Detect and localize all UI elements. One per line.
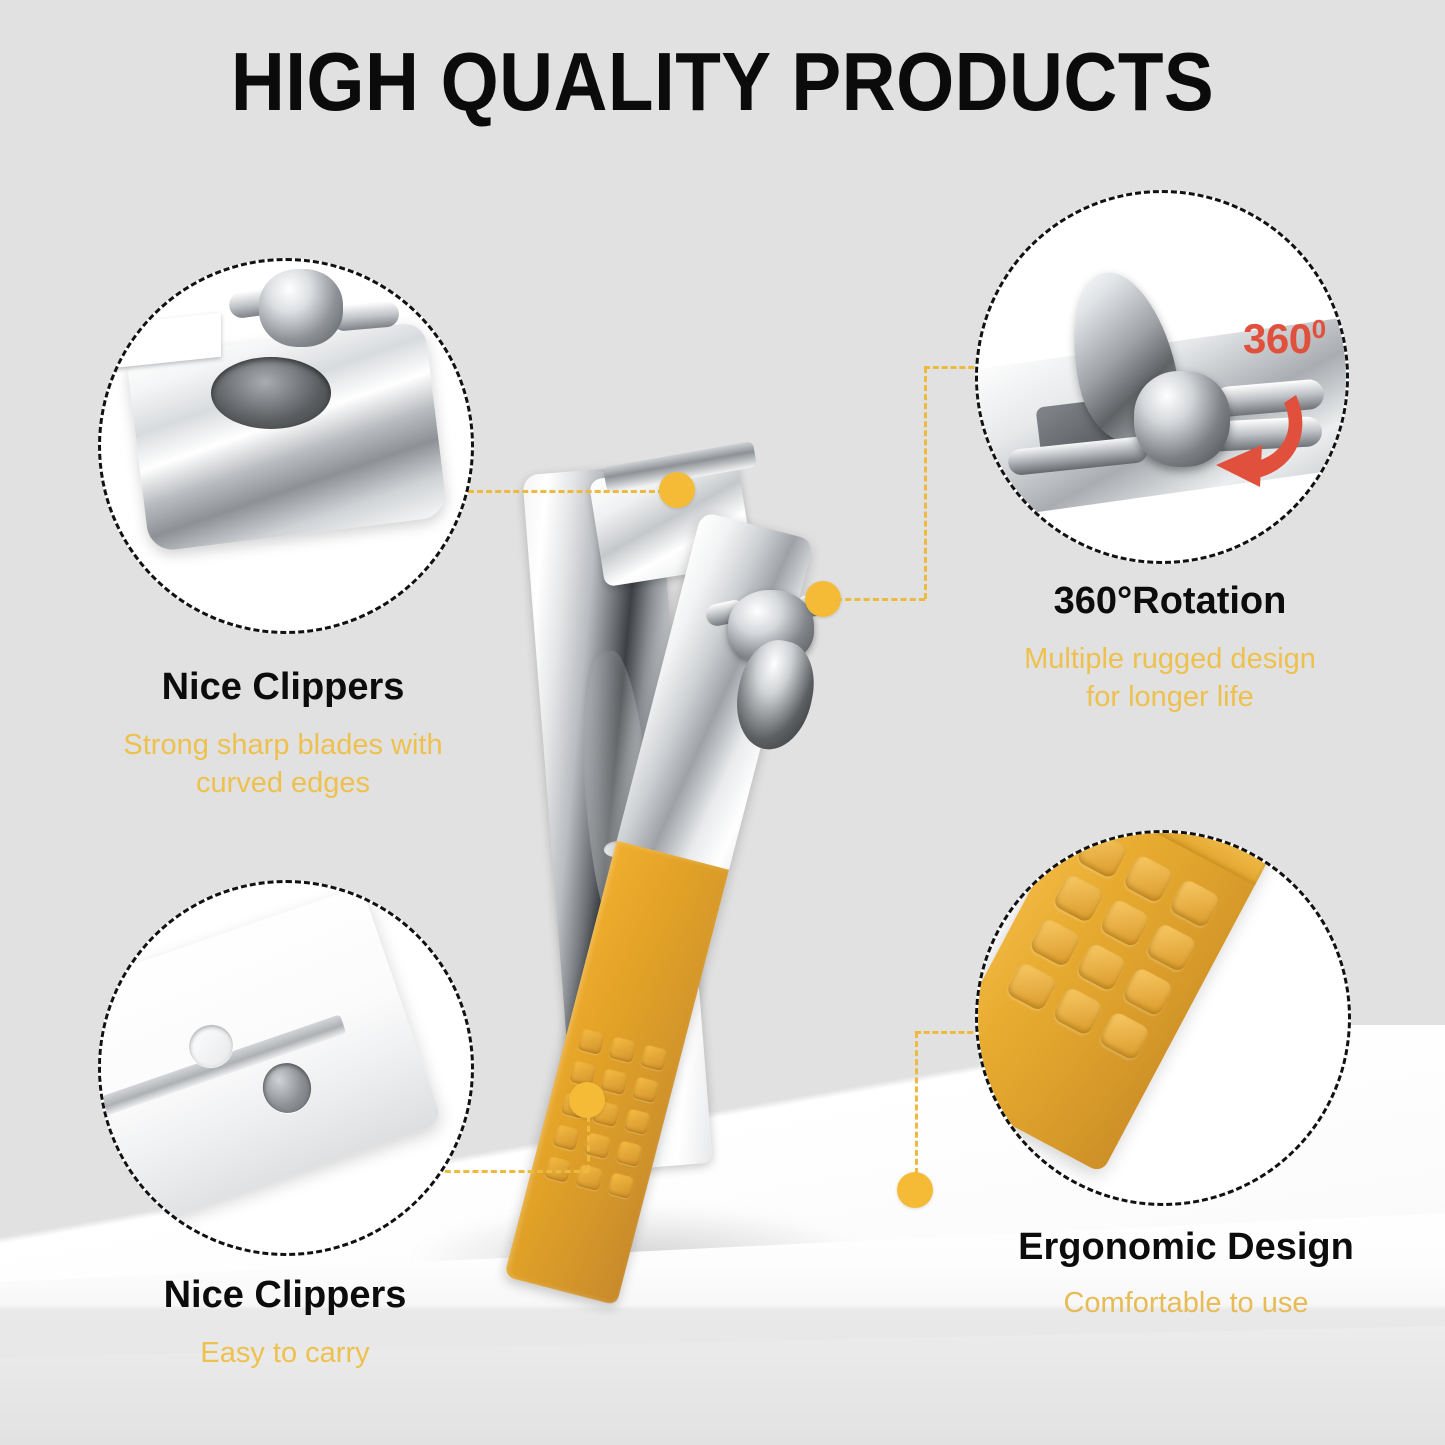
rotation-arrow-icon <box>1164 369 1314 499</box>
page-title: HIGH QUALITY PRODUCTS <box>72 34 1373 130</box>
clipper-jaw-shadow <box>606 484 723 555</box>
feature-subtitle: Strong sharp blades with curved edges <box>58 726 508 803</box>
clipper-upper-jaw <box>588 457 753 587</box>
hotspot-dot-pivot <box>805 581 841 617</box>
clipper-body-hole <box>603 910 639 939</box>
clipper-lever-arm <box>504 511 814 1305</box>
clipper-lower-arm <box>522 465 713 1174</box>
clipper-cutting-edge <box>603 441 757 493</box>
clipper-yellow-grip <box>504 841 729 1306</box>
clipper-body-notch <box>603 840 630 858</box>
badge-360-degrees: 3600 <box>1243 314 1326 363</box>
connector-line-segment <box>924 367 927 599</box>
feature-subtitle-line: Comfortable to use <box>966 1284 1406 1322</box>
pivot-ear-right <box>795 591 838 618</box>
feature-subtitle: Comfortable to use <box>966 1284 1406 1322</box>
connector-line-segment <box>915 1032 918 1174</box>
detail-circle-rotating-pivot[interactable] <box>975 190 1349 564</box>
feature-subtitle: Easy to carry <box>60 1334 510 1372</box>
feature-subtitle-line: Easy to carry <box>60 1334 510 1372</box>
feature-subtitle-line: Multiple rugged design <box>980 640 1360 678</box>
clipper-lever-tongue <box>727 634 822 757</box>
feature-subtitle-line: Strong sharp blades with <box>58 726 508 764</box>
feature-caption-ergonomic: Ergonomic Design Comfortable to use <box>966 1226 1406 1322</box>
clipper-pivot-rivet <box>728 590 814 664</box>
hotspot-dot-jaw <box>659 472 695 508</box>
detail-circle-flat-body[interactable] <box>98 880 474 1256</box>
feature-title: Nice Clippers <box>60 1274 510 1318</box>
hotspot-dot-body <box>569 1082 605 1118</box>
grip-bump-grid <box>544 1028 668 1199</box>
flat-body-holes-closeup-image <box>101 883 471 1253</box>
detail-circle-clipper-jaw[interactable] <box>98 258 474 634</box>
feature-title: Ergonomic Design <box>966 1226 1406 1270</box>
infographic-canvas: HIGH QUALITY PRODUCTS <box>0 0 1445 1445</box>
yellow-grip-closeup-image <box>978 833 1348 1203</box>
nail-clipper-product-image <box>500 440 1020 1310</box>
hotspot-dot-grip <box>897 1172 933 1208</box>
clipper-jaw-closeup-image <box>101 261 471 631</box>
feature-subtitle: Multiple rugged design for longer life <box>980 640 1360 717</box>
jaw-rivet <box>259 269 343 347</box>
feature-subtitle-line: curved edges <box>58 764 508 802</box>
grip-bump-grid-closeup <box>1005 830 1221 1061</box>
connector-line-segment <box>836 598 925 601</box>
connector-line-segment <box>468 490 664 493</box>
detail-circle-yellow-grip[interactable] <box>975 830 1351 1206</box>
feature-title: Nice Clippers <box>58 666 508 710</box>
feature-caption-nice-clippers-carry: Nice Clippers Easy to carry <box>60 1274 510 1372</box>
grip-body <box>975 830 1275 1173</box>
feature-caption-rotation: 360°Rotation Multiple rugged design for … <box>980 580 1360 716</box>
connector-line-segment <box>587 1116 590 1171</box>
pivot-ear-left <box>704 598 748 628</box>
jaw-cavity <box>211 357 331 429</box>
feature-caption-nice-clippers-blades: Nice Clippers Strong sharp blades with c… <box>58 666 508 802</box>
feature-subtitle-line: for longer life <box>980 678 1360 716</box>
rotating-pivot-closeup-image <box>978 193 1346 561</box>
feature-title: 360°Rotation <box>980 580 1360 624</box>
